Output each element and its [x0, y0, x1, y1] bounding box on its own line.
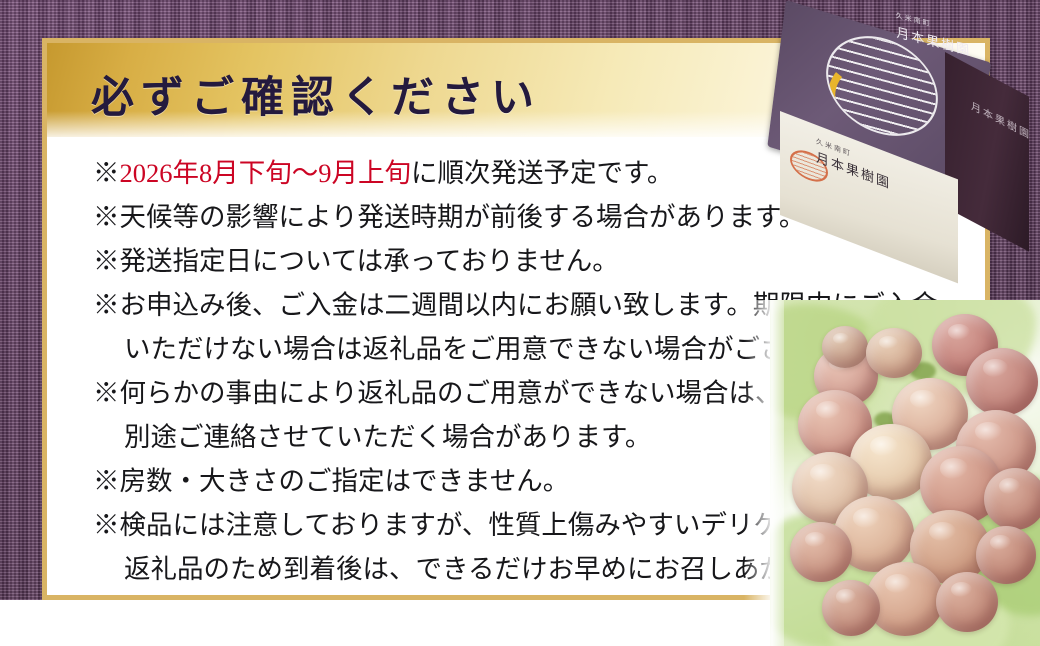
grape-berry [822, 580, 880, 636]
grape-berry [936, 572, 998, 632]
product-box-image: 久米南町 月本果樹園 久米南町 月本果樹園 月本果樹園 [768, 0, 1040, 244]
bullet-mark: ※ [93, 202, 120, 232]
page-title: 必ずご確認ください [91, 63, 541, 125]
bullet-mark: ※ [93, 378, 120, 408]
list-item-text: 何らかの事由により返礼品のご用意ができない場合は、 [120, 378, 782, 408]
shipping-period-highlight: 2026年8月下旬～9月上旬 [120, 158, 412, 188]
list-item-text: 別途ご連絡させていただく場合があります。 [124, 422, 651, 452]
grape-berry [790, 522, 852, 582]
list-item-text: 検品には注意しておりますが、性質上傷みやすいデリケートな [120, 510, 860, 540]
grape-berry [822, 326, 868, 368]
grape-berry [966, 348, 1038, 416]
list-item: ※発送指定日については承っておりません。 [93, 239, 953, 283]
bullet-mark: ※ [93, 466, 120, 496]
list-item-text: 天候等の影響により発送時期が前後する場合があります。 [120, 202, 806, 232]
berry-cluster [770, 300, 1040, 646]
grape-berry [866, 328, 922, 378]
bullet-mark: ※ [93, 158, 120, 188]
bullet-mark: ※ [93, 246, 120, 276]
bullet-mark: ※ [93, 510, 120, 540]
grape-cluster-image [770, 300, 1040, 646]
grape-berry [984, 468, 1040, 530]
bullet-mark: ※ [93, 290, 120, 320]
grape-berry [976, 526, 1036, 584]
list-item-text: に順次発送予定です。 [411, 158, 673, 188]
list-item-text: 発送指定日については承っておりません。 [120, 246, 619, 276]
list-item-text: 房数・大きさのご指定はできません。 [120, 466, 570, 496]
